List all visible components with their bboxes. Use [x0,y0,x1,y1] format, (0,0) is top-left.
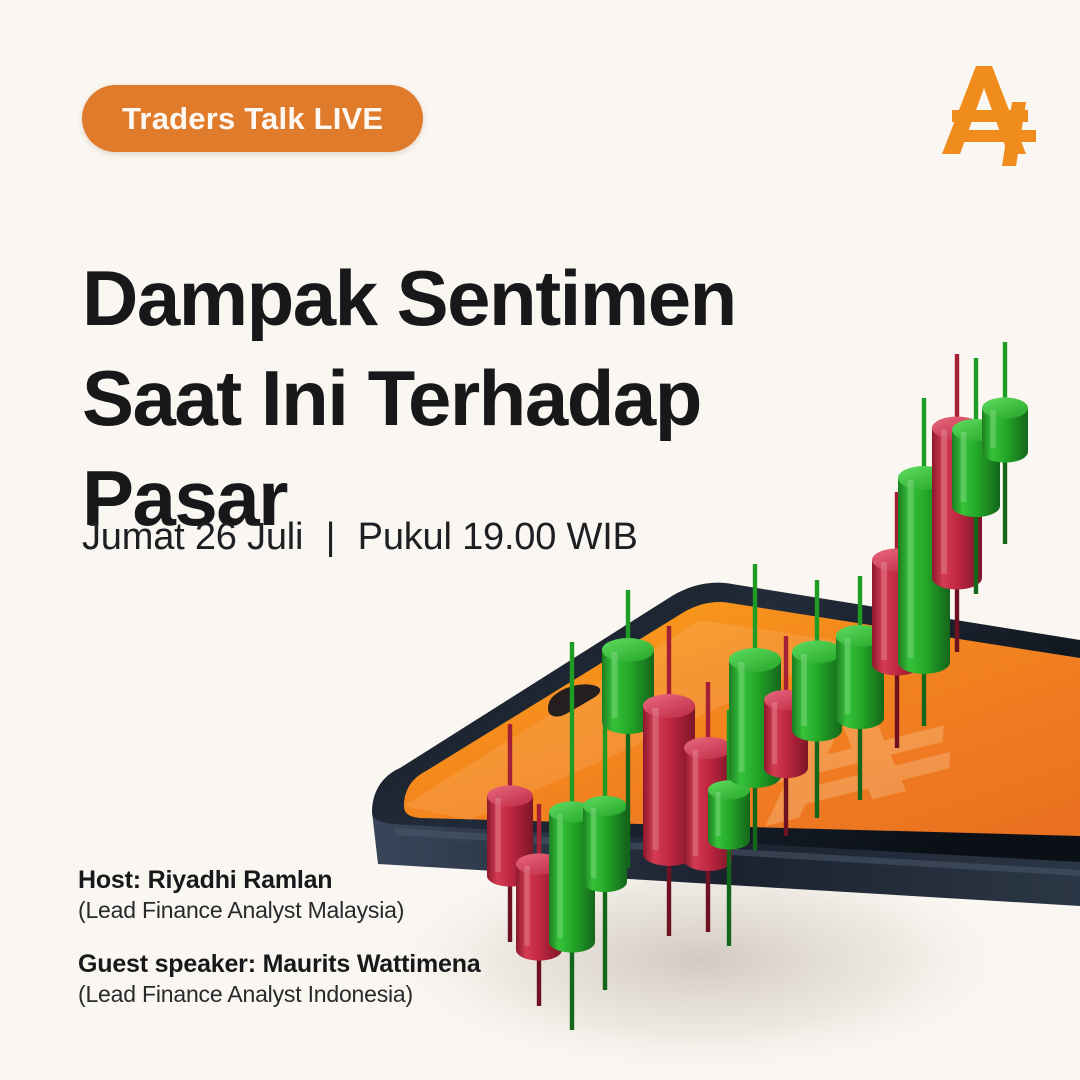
brand-a-logo-icon [938,58,1038,166]
host-role: (Lead Finance Analyst Malaysia) [78,897,481,924]
poster-canvas: Traders Talk LIVE Dampak Sentimen Saat I… [0,0,1080,1080]
credit-guest: Guest speaker: Maurits Wattimena (Lead F… [78,950,481,1008]
host-name: Host: Riyadhi Ramlan [78,866,481,895]
headline-line-1: Dampak Sentimen [82,248,782,348]
event-time: Pukul 19.00 WIB [358,516,638,558]
live-badge[interactable]: Traders Talk LIVE [82,85,423,152]
datetime-separator: | [326,516,336,559]
event-date: Jumat 26 Juli [82,516,303,558]
event-datetime: Jumat 26 Juli | Pukul 19.00 WIB [82,516,638,559]
live-badge-label: Traders Talk LIVE [122,101,383,137]
page-title: Dampak Sentimen Saat Ini Terhadap Pasar [82,248,782,548]
credit-host: Host: Riyadhi Ramlan (Lead Finance Analy… [78,866,481,924]
speaker-credits: Host: Riyadhi Ramlan (Lead Finance Analy… [78,866,481,1034]
guest-role: (Lead Finance Analyst Indonesia) [78,981,481,1008]
headline-line-2: Saat Ini Terhadap [82,348,782,448]
guest-name: Guest speaker: Maurits Wattimena [78,950,481,979]
